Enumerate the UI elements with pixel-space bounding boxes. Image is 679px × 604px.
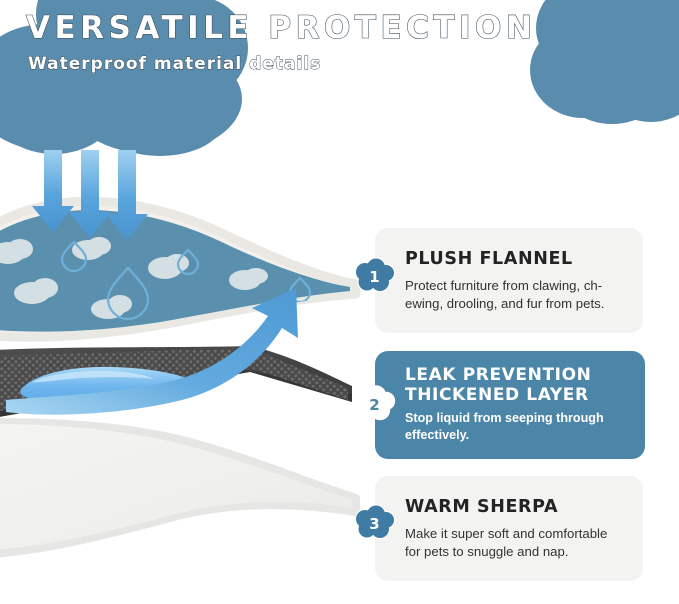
panel-title: WARM SHERPA [405,497,629,517]
badge-number: 2 [352,386,396,422]
header-text-block: VERSATILE PROTECTION Waterproof material… [26,12,536,74]
infographic-canvas: VERSATILE PROTECTION Waterproof material… [0,0,679,604]
water-arrows-down [32,150,148,240]
badge-number: 1 [352,258,396,294]
badge-number: 3 [352,505,396,541]
panel-body-line: Stop liquid from seeping through [405,410,631,427]
badge-step-2: 2 [352,386,396,422]
page-subtitle: Waterproof material details [28,54,536,74]
panel-title-line: LEAK PREVENTION [405,366,631,386]
panel-body-line: ewing, drooling, and fur from pets. [405,295,629,313]
panel-body: Make it super soft and comfortable for p… [405,525,629,560]
panel-plush-flannel[interactable]: PLUSH FLANNEL Protect furniture from cla… [375,228,643,333]
panel-title: LEAK PREVENTION THICKENED LAYER [405,366,631,405]
panel-warm-sherpa[interactable]: WARM SHERPA Make it super soft and comfo… [375,476,643,581]
layer-plush-flannel [0,150,356,337]
cloud-puff [96,84,224,156]
material-layers-illustration [0,150,400,604]
panel-title-line: THICKENED LAYER [405,386,631,406]
page-title: VERSATILE PROTECTION [26,12,536,45]
panel-body: Stop liquid from seeping through effecti… [405,410,631,444]
panel-leak-prevention[interactable]: LEAK PREVENTION THICKENED LAYER Stop liq… [375,351,645,459]
panel-body-line: Protect furniture from clawing, ch- [405,277,629,295]
cloud-puff [560,44,664,124]
badge-step-1: 1 [352,258,396,294]
panel-body-line: for pets to snuggle and nap. [405,543,629,561]
panel-body-line: effectively. [405,427,631,444]
panel-title: PLUSH FLANNEL [405,249,629,269]
panel-body: Protect furniture from clawing, ch- ewin… [405,277,629,312]
panel-body-line: Make it super soft and comfortable [405,525,629,543]
badge-step-3: 3 [352,505,396,541]
layer-warm-sherpa [0,422,356,554]
